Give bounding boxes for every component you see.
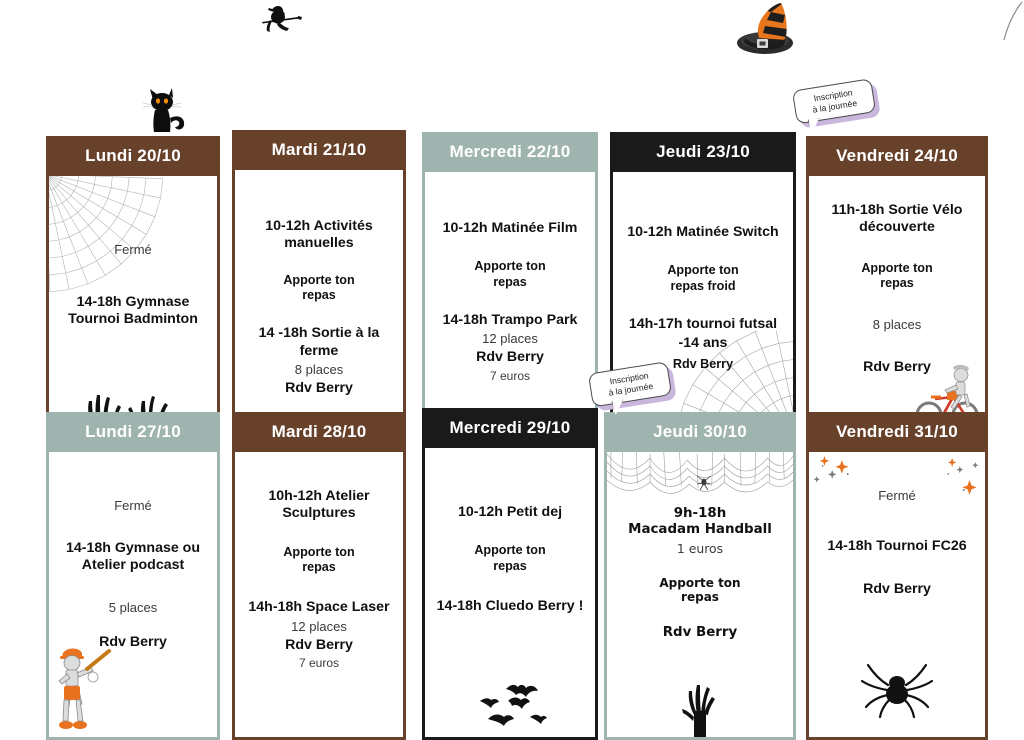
activity-line: 10-12h Matinée Film	[443, 220, 578, 237]
day-card-frame: 10-12h Petit dejApporte ton repas14-18h …	[422, 448, 598, 740]
day-card-lines: Fermé14-18h Gymnase Tournoi Badminton	[57, 190, 209, 328]
day-card-header: Vendredi 24/10	[806, 136, 988, 176]
day-card-body: 11h-18h Sortie Vélo découverteApporte to…	[809, 176, 985, 435]
activity-line: Apporte ton repas	[861, 261, 932, 292]
activity-line: 11h-18h Sortie Vélo découverte	[832, 202, 963, 237]
activity-line: -14 ans	[679, 335, 728, 352]
day-card-title: Mercredi 22/10	[450, 142, 571, 162]
day-card-body: Fermé14-18h Gymnase ou Atelier podcast5 …	[49, 452, 217, 737]
day-card-mardi-21-10: Mardi 21/1010-12h Activités manuellesApp…	[232, 130, 406, 396]
day-card-header: Lundi 27/10	[46, 412, 220, 452]
day-card-body: Fermé14-18h Tournoi FC26Rdv Berry	[809, 452, 985, 737]
day-card-header: Mercredi 29/10	[422, 408, 598, 448]
day-card-lundi-20-10: Lundi 20/10 Fermé14-18h Gymnase Tournoi …	[46, 136, 220, 396]
day-card-header: Jeudi 23/10	[610, 132, 796, 172]
day-card-frame: 10-12h Matinée FilmApporte ton repas14-1…	[422, 172, 598, 436]
day-card-lines: 10-12h Matinée SwitchApporte ton repas f…	[621, 186, 785, 372]
activity-line: 14-18h Gymnase ou Atelier podcast	[66, 540, 200, 575]
bats-icon	[464, 681, 556, 729]
witch-on-broom-icon	[258, 2, 302, 38]
activity-line: 12 places	[291, 619, 347, 635]
activity-line: Rdv Berry	[673, 357, 733, 372]
activity-line: 14-18h Tournoi FC26	[827, 538, 966, 555]
day-card-frame: Fermé14-18h Gymnase Tournoi Badminton	[46, 176, 220, 436]
day-card-header: Jeudi 30/10	[604, 412, 796, 452]
activity-line: Rdv Berry	[863, 581, 931, 598]
activity-line: Fermé	[114, 498, 152, 514]
day-card-title: Mercredi 29/10	[450, 418, 571, 438]
inscription-bubble-jeudi-30: Inscription à la journée	[588, 361, 676, 408]
day-card-header: Vendredi 31/10	[806, 412, 988, 452]
black-cat-icon	[139, 84, 191, 134]
activity-line: 14-18h Trampo Park	[443, 312, 578, 329]
day-card-title: Vendredi 24/10	[836, 146, 958, 166]
day-card-title: Vendredi 31/10	[836, 422, 958, 442]
day-card-jeudi-23-10: Jeudi 23/10 10-12h Matinée SwitchApporte…	[610, 132, 796, 396]
spider-icon	[858, 657, 936, 719]
activity-line: 10-12h Matinée Switch	[627, 224, 778, 241]
activity-line: 1 euros	[677, 541, 723, 556]
witch-hat-icon	[729, 0, 801, 58]
day-card-header: Mardi 21/10	[232, 130, 406, 170]
day-card-frame: 9h-18h Macadam Handball1 eurosApporte to…	[604, 452, 796, 740]
activity-line: 14 -18h Sortie à la ferme	[243, 325, 395, 360]
activity-line: Rdv Berry	[863, 359, 931, 376]
day-card-lines: 10-12h Petit dejApporte ton repas14-18h …	[433, 462, 587, 615]
activity-line: Fermé	[114, 242, 152, 258]
activity-line: Rdv Berry	[99, 634, 167, 651]
activity-line: Apporte ton repas	[283, 545, 354, 576]
activity-line: 10-12h Activités manuelles	[265, 218, 373, 253]
activity-line: Apporte ton repas	[283, 273, 354, 304]
activity-line: Fermé	[878, 488, 916, 504]
zombie-hand-icon	[677, 681, 723, 737]
activity-line: 9h-18h Macadam Handball	[628, 506, 772, 539]
corner-swoosh-decoration	[994, 0, 1024, 44]
day-card-jeudi-30-10: Jeudi 30/10	[604, 412, 796, 700]
activity-line: 10h-12h Atelier Sculptures	[268, 488, 369, 523]
day-card-body: 10h-12h Atelier SculpturesApporte ton re…	[235, 452, 403, 737]
day-card-body: 10-12h Activités manuellesApporte ton re…	[235, 170, 403, 433]
activity-line: 8 places	[873, 317, 921, 333]
day-card-lines: 9h-18h Macadam Handball1 eurosApporte to…	[615, 466, 785, 641]
activity-line: Rdv Berry	[285, 380, 353, 397]
activity-line: Apporte ton repas froid	[667, 263, 738, 294]
day-card-title: Mardi 28/10	[272, 422, 367, 442]
day-card-body: 9h-18h Macadam Handball1 eurosApporte to…	[607, 452, 793, 737]
day-card-vendredi-31-10: Vendredi 31/10	[806, 412, 988, 700]
day-card-mercredi-22-10: Mercredi 22/1010-12h Matinée FilmApporte…	[422, 132, 598, 396]
day-card-header: Lundi 20/10	[46, 136, 220, 176]
activity-line: Apporte ton repas	[474, 259, 545, 290]
day-card-lines: 10-12h Matinée FilmApporte ton repas14-1…	[433, 186, 587, 383]
activity-line: Rdv Berry	[285, 637, 353, 654]
day-card-lines: Fermé14-18h Tournoi FC26Rdv Berry	[817, 466, 977, 598]
day-card-frame: Fermé14-18h Gymnase ou Atelier podcast5 …	[46, 452, 220, 740]
day-card-vendredi-24-10: Vendredi 24/10 11h-18h Sortie Vélo décou…	[806, 136, 988, 398]
day-card-lines: Fermé14-18h Gymnase ou Atelier podcast5 …	[57, 466, 209, 652]
day-card-header: Mardi 28/10	[232, 412, 406, 452]
activity-line: Rdv Berry	[476, 349, 544, 366]
day-card-body: Fermé14-18h Gymnase Tournoi Badminton	[49, 176, 217, 433]
day-card-title: Lundi 27/10	[85, 422, 181, 442]
day-card-frame: Fermé14-18h Tournoi FC26Rdv Berry	[806, 452, 988, 740]
activity-line: 14h-17h tournoi futsal	[629, 316, 777, 333]
activity-line: Rdv Berry	[663, 625, 738, 641]
activity-line: 14h-18h Space Laser	[248, 599, 389, 616]
day-card-lundi-27-10: Lundi 27/10 Fermé14-18h Gymnase ou Ateli…	[46, 412, 220, 700]
activity-line: 7 euros	[299, 656, 339, 671]
day-card-mardi-28-10: Mardi 28/1010h-12h Atelier SculpturesApp…	[232, 412, 406, 700]
activity-line: Apporte ton repas	[474, 543, 545, 574]
activity-line: 7 euros	[490, 369, 530, 384]
activity-line: 14-18h Gymnase Tournoi Badminton	[68, 294, 198, 329]
activity-line: 12 places	[482, 331, 538, 347]
activity-line: 14-18h Cluedo Berry !	[437, 598, 584, 615]
day-card-title: Lundi 20/10	[85, 146, 181, 166]
day-card-mercredi-29-10: Mercredi 29/10 10-12h Petit dejApporte t…	[422, 408, 598, 700]
skeleton-baseball-icon	[51, 645, 113, 733]
activity-line: 8 places	[295, 362, 343, 378]
day-card-lines: 11h-18h Sortie Vélo découverteApporte to…	[817, 190, 977, 377]
day-card-header: Mercredi 22/10	[422, 132, 598, 172]
activity-line: 10-12h Petit dej	[458, 504, 562, 521]
day-card-title: Jeudi 30/10	[653, 422, 747, 442]
day-card-frame: 10-12h Activités manuellesApporte ton re…	[232, 170, 406, 436]
day-card-body: 10-12h Matinée FilmApporte ton repas14-1…	[425, 172, 595, 433]
day-card-title: Jeudi 23/10	[656, 142, 750, 162]
day-card-frame: 11h-18h Sortie Vélo découverteApporte to…	[806, 176, 988, 438]
inscription-bubble-vendredi-24: Inscription à la journée	[792, 78, 880, 125]
activity-line: Apporte ton repas	[659, 576, 740, 605]
day-card-lines: 10h-12h Atelier SculpturesApporte ton re…	[243, 466, 395, 670]
activity-line: 5 places	[109, 600, 157, 616]
day-card-body: 10-12h Petit dejApporte ton repas14-18h …	[425, 448, 595, 737]
day-card-title: Mardi 21/10	[272, 140, 367, 160]
day-card-lines: 10-12h Activités manuellesApporte ton re…	[243, 184, 395, 397]
day-card-frame: 10h-12h Atelier SculpturesApporte ton re…	[232, 452, 406, 740]
